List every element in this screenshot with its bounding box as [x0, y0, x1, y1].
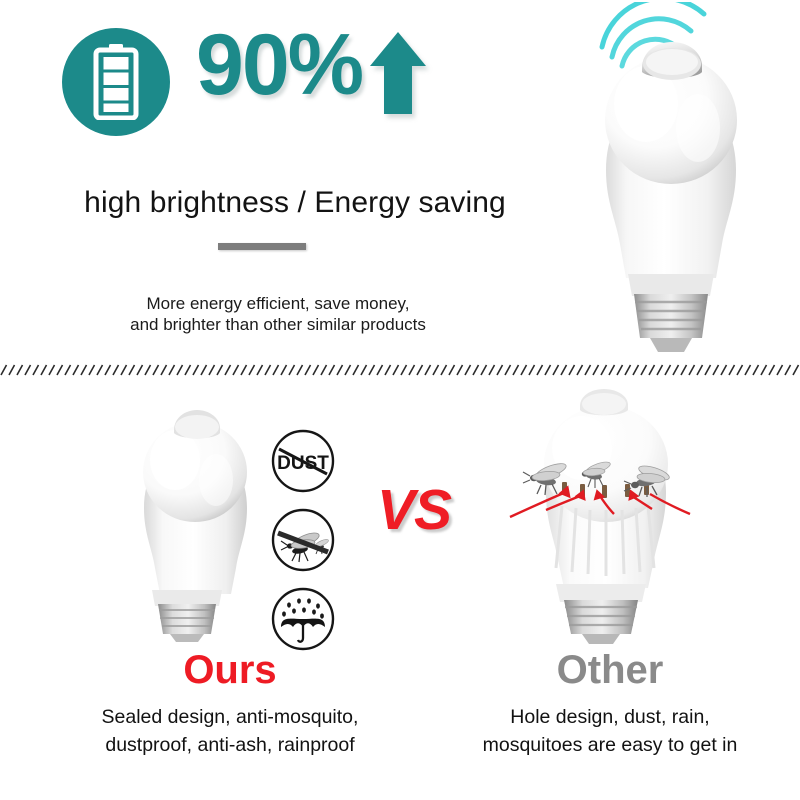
- ours-description: Sealed design, anti-mosquito, dustproof,…: [55, 704, 405, 759]
- vented-led-bulb-with-mosquitoes: [494, 386, 720, 644]
- arrow-up-icon: [368, 30, 428, 116]
- sealed-pir-led-bulb: [108, 390, 284, 642]
- battery-full-icon: [62, 28, 170, 136]
- energy-saving-section: 90% high brightness / Energy saving More…: [0, 0, 800, 365]
- other-description-line-1: Hole design, dust, rain,: [420, 704, 800, 732]
- energy-saving-percentage: 90%: [196, 22, 362, 108]
- ours-label: Ours: [60, 650, 400, 690]
- vs-label: VS: [377, 482, 451, 539]
- rainproof-umbrella-icon: [270, 586, 336, 652]
- feature-icon-list: DUST: [270, 428, 340, 665]
- comparison-section: DUST: [0, 382, 800, 800]
- description-line-2: and brighter than other similar products: [0, 315, 556, 336]
- pir-sensor-led-bulb: [546, 2, 796, 354]
- product-infographic: 90% high brightness / Energy saving More…: [0, 0, 800, 800]
- other-description-line-2: mosquitoes are easy to get in: [420, 732, 800, 760]
- other-description: Hole design, dust, rain, mosquitoes are …: [420, 704, 800, 759]
- energy-saving-description: More energy efficient, save money, and b…: [0, 294, 556, 335]
- ours-description-line-2: dustproof, anti-ash, rainproof: [55, 732, 405, 760]
- title-underline-rule: [218, 243, 306, 250]
- other-label: Other: [420, 650, 800, 690]
- no-dust-icon: DUST: [270, 428, 336, 494]
- ours-description-line-1: Sealed design, anti-mosquito,: [55, 704, 405, 732]
- description-line-1: More energy efficient, save money,: [0, 294, 556, 315]
- page-title: high brightness / Energy saving: [0, 186, 590, 220]
- no-mosquito-icon: [270, 507, 336, 573]
- hatch-divider: [0, 362, 800, 378]
